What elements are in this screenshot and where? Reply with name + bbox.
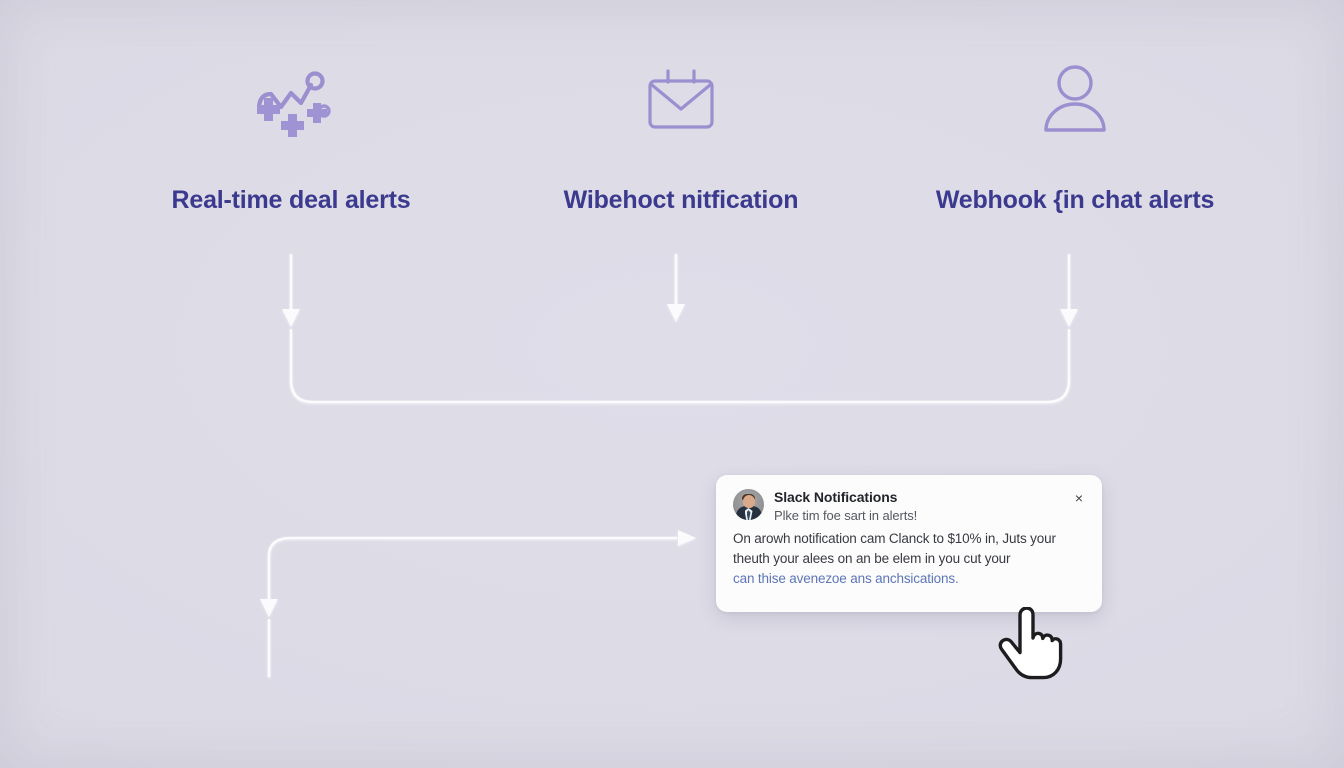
feature-label-deal-alerts: Real-time deal alerts xyxy=(111,186,471,215)
notification-header: Slack Notifications Plke tim foe sart in… xyxy=(733,489,1085,524)
arrow-down-left xyxy=(282,309,300,327)
user-person-icon xyxy=(895,52,1255,148)
arrow-down-center xyxy=(667,304,685,322)
hand-pointer-cursor xyxy=(997,607,1063,681)
feature-label-webhook-notification: Wibehoct nitfication xyxy=(501,186,861,215)
close-icon[interactable]: × xyxy=(1071,490,1087,506)
diagram-canvas: Real-time deal alerts Wibehoct nitficati… xyxy=(0,0,1344,768)
notification-titles: Slack Notifications Plke tim foe sart in… xyxy=(774,489,1085,524)
line-bottom-rail xyxy=(291,330,1069,402)
notification-body-link[interactable]: can thise avenezoe ans anchsications. xyxy=(733,569,1085,589)
slack-notification-card[interactable]: Slack Notifications Plke tim foe sart in… xyxy=(716,475,1102,612)
arrow-down-lower-left xyxy=(260,599,278,617)
arrow-down-right xyxy=(1060,309,1078,327)
notification-body-line-2: theuth your alees on an be elem in you c… xyxy=(733,549,1085,569)
feature-label-chat-alerts: Webhook {in chat alerts xyxy=(895,186,1255,215)
notification-body: On arowh notification cam Clanck to $10%… xyxy=(733,529,1085,589)
feature-column-chat-alerts: Webhook {in chat alerts xyxy=(895,52,1255,215)
analytics-sparkle-icon xyxy=(111,52,471,148)
line-lower-elbow xyxy=(269,538,676,600)
avatar xyxy=(733,489,764,520)
notification-body-line-1: On arowh notification cam Clanck to $10%… xyxy=(733,529,1085,549)
arrow-right-to-card xyxy=(678,530,696,546)
feature-column-deal-alerts: Real-time deal alerts xyxy=(111,52,471,215)
notification-subtitle: Plke tim foe sart in alerts! xyxy=(774,508,1085,525)
feature-column-webhook-notification: Wibehoct nitfication xyxy=(501,52,861,215)
envelope-icon xyxy=(501,52,861,148)
notification-title: Slack Notifications xyxy=(774,489,1085,507)
